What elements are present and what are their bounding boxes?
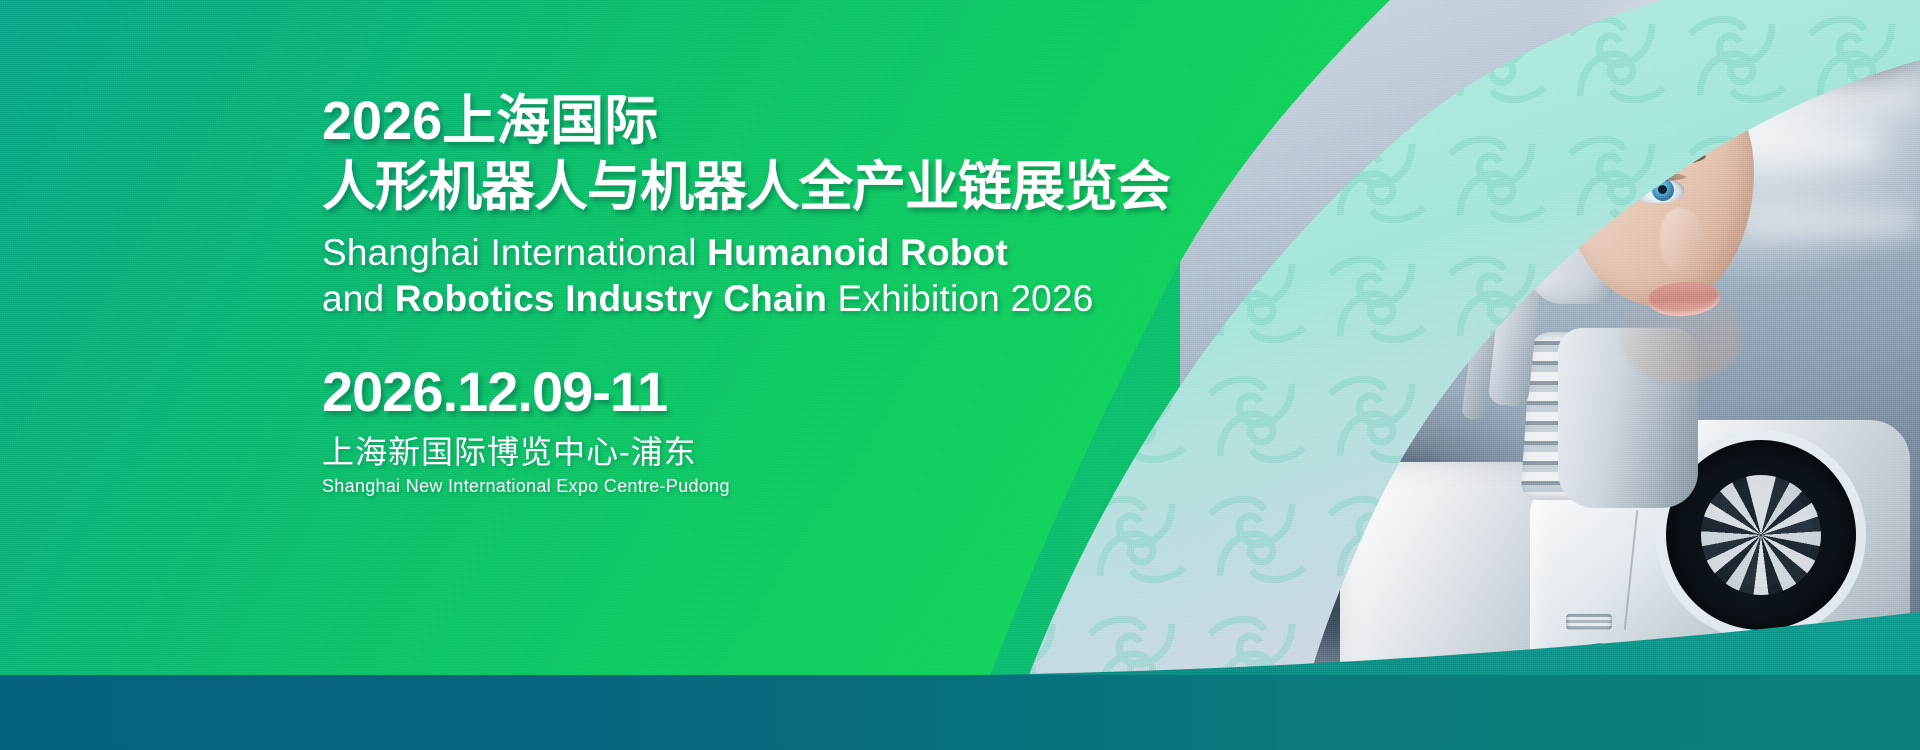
bottom-color-band bbox=[0, 675, 1920, 750]
event-date: 2026.12.09-11 bbox=[322, 362, 1142, 422]
title-en-l1-normal: Shanghai International bbox=[322, 232, 707, 273]
title-chinese-line2: 人形机器人与机器人全产业链展览会 bbox=[322, 154, 1142, 220]
banner-text-block: 2026上海国际 人形机器人与机器人全产业链展览会 Shanghai Inter… bbox=[322, 88, 1142, 498]
title-en-l2-normal-b: Exhibition 2026 bbox=[827, 278, 1094, 319]
title-en-l1-bold: Humanoid Robot bbox=[707, 232, 1008, 273]
title-chinese-line1: 2026上海国际 bbox=[322, 88, 1142, 154]
title-chinese: 2026上海国际 人形机器人与机器人全产业链展览会 bbox=[322, 88, 1142, 220]
title-en-l2-normal-a: and bbox=[322, 278, 395, 319]
venue-chinese: 上海新国际博览中心-浦东 bbox=[322, 432, 1142, 472]
title-english-line1: Shanghai International Humanoid Robot bbox=[322, 230, 1142, 276]
title-english-line2: and Robotics Industry Chain Exhibition 2… bbox=[322, 276, 1142, 322]
title-english: Shanghai International Humanoid Robot an… bbox=[322, 230, 1142, 322]
exhibition-banner: 2026上海国际 人形机器人与机器人全产业链展览会 Shanghai Inter… bbox=[0, 0, 1920, 750]
venue-english: Shanghai New International Expo Centre-P… bbox=[322, 474, 1142, 498]
title-en-l2-bold: Robotics Industry Chain bbox=[395, 278, 827, 319]
